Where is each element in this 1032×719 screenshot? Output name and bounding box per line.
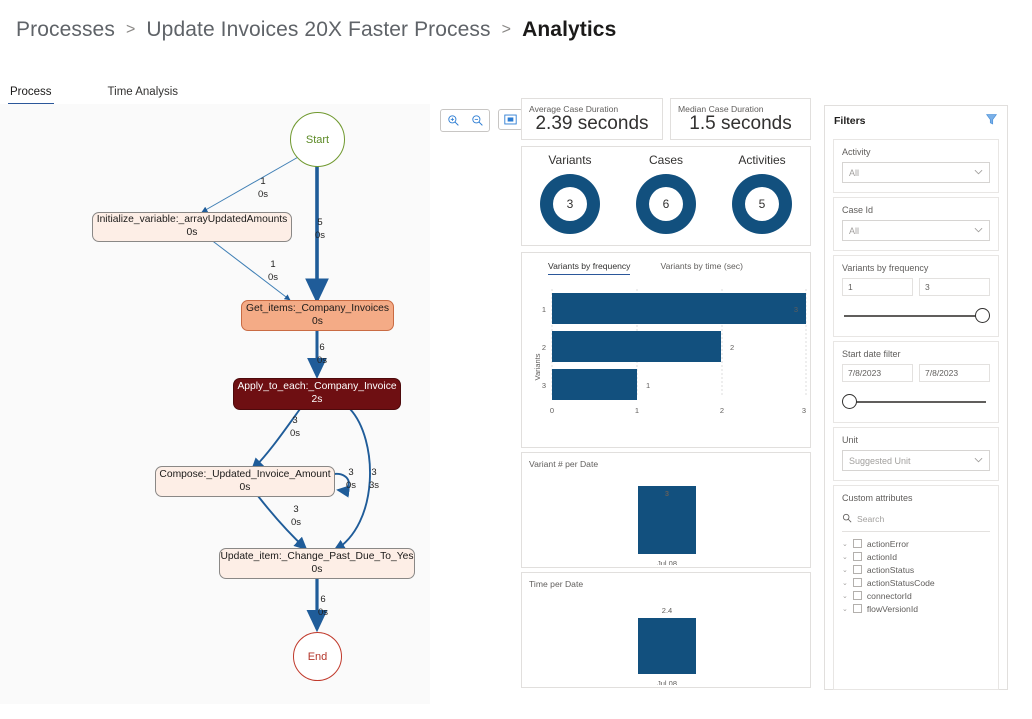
- edge-label-update-end: 6 0s: [318, 594, 328, 620]
- filter-label: Custom attributes: [842, 493, 990, 503]
- filter-label: Variants by frequency: [842, 263, 990, 273]
- node-label: Update_item:_Change_Past_Due_To_Yes: [220, 551, 413, 564]
- variants-bar-chart: Variants 3 2 1 1 2 3 0 1 2 3: [522, 275, 810, 440]
- edge-label-start-init: 1 0s: [258, 176, 268, 202]
- attribute-checkbox[interactable]: [853, 604, 862, 613]
- filter-label: Activity: [842, 147, 990, 157]
- edge-duration: 0s: [258, 189, 268, 202]
- attribute-label: actionStatusCode: [867, 578, 935, 588]
- node-duration: 0s: [312, 316, 323, 329]
- edge-label-compose-self: 3 0s: [346, 467, 356, 493]
- node-label: Compose:_Updated_Invoice_Amount: [159, 469, 330, 482]
- chevron-right-icon: >: [126, 21, 135, 39]
- process-diagram: Start Initialize_variable:_arrayUpdatedA…: [0, 104, 430, 704]
- y-tick: 3: [542, 381, 546, 390]
- edge-count: 6: [318, 594, 328, 607]
- chevron-down-icon[interactable]: ⌄: [842, 605, 848, 613]
- counter-label: Activities: [738, 153, 785, 167]
- bar-value: 2.4: [662, 606, 672, 615]
- filter-label: Unit: [842, 435, 990, 445]
- unit-dropdown[interactable]: Suggested Unit: [842, 450, 990, 471]
- edge-label-init-getitems: 1 0s: [268, 259, 278, 285]
- attribute-label: actionId: [867, 552, 897, 562]
- attribute-label: actionStatus: [867, 565, 914, 575]
- y-axis-title: Variants: [533, 353, 542, 380]
- slider-thumb[interactable]: [975, 308, 990, 323]
- edge-label-compose-update: 3 0s: [291, 504, 301, 530]
- attribute-row[interactable]: ⌄ actionError: [842, 537, 990, 550]
- x-tick: Jul 08: [657, 559, 677, 565]
- filter-case-id: Case Id All: [833, 197, 999, 251]
- filters-header: Filters: [825, 106, 1007, 135]
- breadcrumb-current: Analytics: [522, 18, 616, 42]
- edge-label-apply-update: 3 3s: [369, 467, 379, 493]
- attribute-row[interactable]: ⌄ connectorId: [842, 589, 990, 602]
- custom-attributes-search[interactable]: Search: [842, 508, 990, 532]
- x-tick: 0: [550, 406, 554, 415]
- edge-duration: 0s: [290, 428, 300, 441]
- kpi-label: Median Case Duration: [671, 99, 810, 114]
- node-end[interactable]: End: [293, 632, 342, 681]
- bar: [552, 331, 721, 362]
- counter-value: 6: [649, 187, 683, 221]
- chevron-down-icon: [974, 169, 983, 177]
- activity-value: All: [849, 168, 859, 178]
- filter-unit: Unit Suggested Unit: [833, 427, 999, 481]
- unit-value: Suggested Unit: [849, 456, 911, 466]
- attribute-checkbox[interactable]: [853, 552, 862, 561]
- tab-variants-by-time[interactable]: Variants by time (sec): [660, 261, 742, 275]
- node-label: Apply_to_each:_Company_Invoice: [237, 381, 396, 394]
- search-placeholder: Search: [857, 514, 884, 524]
- kpi-average-case-duration: Average Case Duration 2.39 seconds: [521, 98, 663, 140]
- node-duration: 2s: [312, 394, 323, 407]
- filter-activity: Activity All: [833, 139, 999, 193]
- edge-count: 1: [268, 259, 278, 272]
- filter-label: Case Id: [842, 205, 990, 215]
- edge-count: 3: [290, 415, 300, 428]
- tab-process[interactable]: Process: [8, 84, 54, 105]
- funnel-icon[interactable]: [985, 113, 998, 129]
- chevron-down-icon[interactable]: ⌄: [842, 592, 848, 600]
- slider-track: [844, 315, 986, 317]
- edge-duration: 0s: [268, 272, 278, 285]
- chart-title: Variant # per Date: [522, 453, 810, 469]
- edge-label-getitems-apply: 6 0s: [317, 342, 327, 368]
- filter-start-date: Start date filter 7/8/2023 7/8/2023: [833, 341, 999, 423]
- variants-slider[interactable]: [842, 305, 990, 327]
- node-apply-to-each[interactable]: Apply_to_each:_Company_Invoice 2s: [233, 378, 401, 410]
- bar: [638, 618, 696, 674]
- breadcrumb-root[interactable]: Processes: [16, 18, 115, 42]
- view-tabs: Process Time Analysis: [8, 84, 180, 105]
- edge-duration: 0s: [315, 230, 325, 243]
- breadcrumb-parent[interactable]: Update Invoices 20X Faster Process: [146, 18, 490, 42]
- chevron-down-icon[interactable]: ⌄: [842, 553, 848, 561]
- kpi-label: Average Case Duration: [522, 99, 662, 114]
- kpi-value: 1.5 seconds: [671, 113, 810, 135]
- chevron-down-icon[interactable]: ⌄: [842, 579, 848, 587]
- x-tick: 1: [635, 406, 639, 415]
- attribute-checkbox[interactable]: [853, 565, 862, 574]
- variant-per-date-chart: 3 Jul 08: [522, 469, 810, 565]
- node-end-label: End: [308, 651, 328, 663]
- filters-panel: Filters Activity All Case Id All: [824, 105, 1008, 690]
- chevron-right-icon: >: [502, 21, 511, 39]
- counter-cases: Cases 6: [636, 153, 696, 234]
- node-get-items[interactable]: Get_items:_Company_Invoices 0s: [241, 300, 394, 331]
- edge-count: 1: [258, 176, 268, 189]
- bar: [552, 369, 637, 400]
- edge-count: 6: [317, 342, 327, 355]
- x-tick: 2: [720, 406, 724, 415]
- time-per-date-panel: Time per Date 2.4 Jul 08: [521, 572, 811, 688]
- edge-duration: 0s: [317, 355, 327, 368]
- edge-label-start-getitems: 5 0s: [315, 217, 325, 243]
- edge-count: 3: [369, 467, 379, 480]
- edge-count: 5: [315, 217, 325, 230]
- node-start-label: Start: [306, 134, 329, 146]
- filter-variants-by-frequency: Variants by frequency 1 3: [833, 255, 999, 337]
- x-tick: 3: [802, 406, 806, 415]
- counter-label: Variants: [548, 153, 591, 167]
- counter-value: 5: [745, 187, 779, 221]
- counter-label: Cases: [649, 153, 683, 167]
- canvas-zoom-controls: [440, 109, 523, 132]
- node-initialize-variable[interactable]: Initialize_variable:_arrayUpdatedAmounts…: [92, 212, 292, 242]
- node-duration: 0s: [187, 227, 198, 240]
- edge-duration: 3s: [369, 480, 379, 493]
- variant-per-date-panel: Variant # per Date 3 Jul 08: [521, 452, 811, 568]
- attribute-row[interactable]: ⌄ actionStatusCode: [842, 576, 990, 589]
- activity-dropdown[interactable]: All: [842, 162, 990, 183]
- filter-label: Start date filter: [842, 349, 990, 359]
- bar: [552, 293, 806, 324]
- bar-value: 3: [665, 489, 669, 498]
- kpi-median-case-duration: Median Case Duration 1.5 seconds: [670, 98, 811, 140]
- bar-value: 1: [646, 381, 650, 390]
- edge-label-apply-compose: 3 0s: [290, 415, 300, 441]
- variants-chart-tabs: Variants by frequency Variants by time (…: [522, 253, 810, 275]
- edge-duration: 0s: [291, 517, 301, 530]
- tab-variants-by-frequency[interactable]: Variants by frequency: [548, 261, 630, 275]
- time-per-date-chart: 2.4 Jul 08: [522, 589, 810, 685]
- fit-to-screen-icon[interactable]: [498, 109, 523, 130]
- start-date-slider[interactable]: [842, 391, 990, 413]
- zoom-out-icon[interactable]: [465, 110, 489, 131]
- filters-title: Filters: [834, 115, 866, 127]
- variants-min-input[interactable]: 1: [842, 278, 913, 296]
- chevron-down-icon[interactable]: ⌄: [842, 566, 848, 574]
- attribute-checkbox[interactable]: [853, 591, 862, 600]
- tab-time-analysis[interactable]: Time Analysis: [106, 84, 181, 105]
- chart-title: Time per Date: [522, 573, 810, 589]
- node-duration: 0s: [240, 482, 251, 495]
- node-update-item[interactable]: Update_item:_Change_Past_Due_To_Yes 0s: [219, 548, 415, 579]
- donut-chart: 6: [636, 174, 696, 234]
- edge-duration: 0s: [346, 480, 356, 493]
- variants-max-input[interactable]: 3: [919, 278, 990, 296]
- counter-variants: Variants 3: [540, 153, 600, 234]
- bar-value: 3: [794, 305, 798, 314]
- attribute-label: connectorId: [867, 591, 912, 601]
- counter-value: 3: [553, 187, 587, 221]
- node-duration: 0s: [312, 564, 323, 577]
- variants-chart-panel: Variants by frequency Variants by time (…: [521, 252, 811, 448]
- start-date-from-input[interactable]: 7/8/2023: [842, 364, 913, 382]
- start-date-to-input[interactable]: 7/8/2023: [919, 364, 990, 382]
- process-map-canvas[interactable]: Start Initialize_variable:_arrayUpdatedA…: [0, 104, 430, 704]
- chevron-down-icon: [974, 227, 983, 235]
- slider-track: [844, 401, 986, 403]
- chevron-down-icon: [974, 457, 983, 465]
- case-id-value: All: [849, 226, 859, 236]
- slider-thumb[interactable]: [842, 394, 857, 409]
- node-start[interactable]: Start: [290, 112, 345, 167]
- y-tick: 1: [542, 305, 546, 314]
- attribute-checkbox[interactable]: [853, 578, 862, 587]
- edge-count: 3: [346, 467, 356, 480]
- node-label: Initialize_variable:_arrayUpdatedAmounts: [97, 214, 288, 227]
- x-tick: Jul 08: [657, 679, 677, 685]
- filter-custom-attributes: Custom attributes Search ⌄ actionError ⌄…: [833, 485, 999, 690]
- donut-chart: 5: [732, 174, 792, 234]
- node-label: Get_items:_Company_Invoices: [246, 303, 389, 316]
- breadcrumb: Processes > Update Invoices 20X Faster P…: [16, 18, 616, 42]
- kpi-counters-panel: Variants 3 Cases 6 Activities 5: [521, 146, 811, 246]
- kpi-value: 2.39 seconds: [522, 113, 662, 135]
- attribute-label: actionError: [867, 539, 909, 549]
- counter-activities: Activities 5: [732, 153, 792, 234]
- search-icon: [842, 510, 852, 528]
- edge-duration: 0s: [318, 607, 328, 620]
- donut-chart: 3: [540, 174, 600, 234]
- attribute-row[interactable]: ⌄ flowVersionId: [842, 602, 990, 615]
- node-compose-updated-invoice-amount[interactable]: Compose:_Updated_Invoice_Amount 0s: [155, 466, 335, 497]
- zoom-in-icon[interactable]: [441, 110, 465, 131]
- bar-value: 2: [730, 343, 734, 352]
- attribute-label: flowVersionId: [867, 604, 918, 614]
- edge-count: 3: [291, 504, 301, 517]
- chevron-down-icon[interactable]: ⌄: [842, 540, 848, 548]
- case-id-dropdown[interactable]: All: [842, 220, 990, 241]
- attribute-row[interactable]: ⌄ actionId: [842, 550, 990, 563]
- attribute-checkbox[interactable]: [853, 539, 862, 548]
- attribute-row[interactable]: ⌄ actionStatus: [842, 563, 990, 576]
- y-tick: 2: [542, 343, 546, 352]
